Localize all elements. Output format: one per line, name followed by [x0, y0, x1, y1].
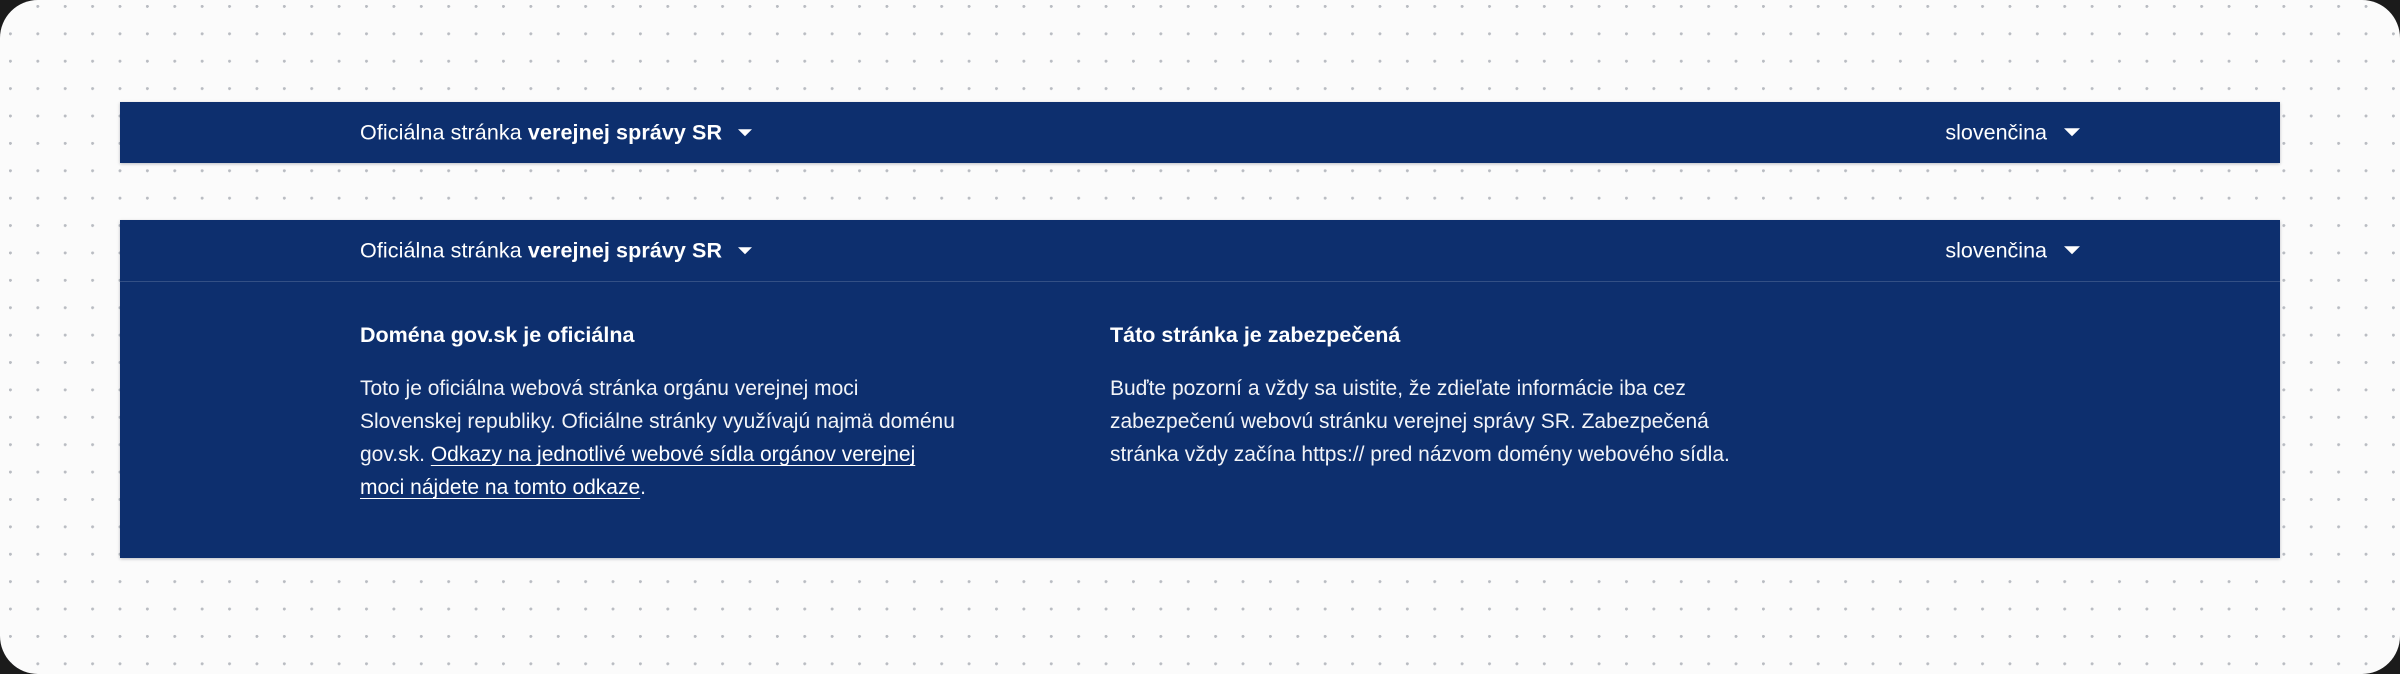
banner-info-panel: Doména gov.sk je oficiálna Toto je ofici… [120, 282, 2280, 558]
official-site-label-expanded: Oficiálna stránka verejnej správy SR [360, 240, 722, 262]
language-selector-expanded[interactable]: slovenčina [1945, 240, 2080, 262]
chevron-down-icon-language-collapsed[interactable] [2064, 129, 2080, 137]
official-site-strong-collapsed: verejnej správy SR [528, 120, 722, 144]
chevron-down-icon-language-expanded[interactable] [2064, 247, 2080, 255]
info-column-domain-text-after: . [640, 476, 646, 499]
language-value-collapsed: slovenčina [1945, 122, 2047, 144]
chevron-down-icon-official-collapsed[interactable] [738, 129, 752, 136]
official-site-toggle-expanded[interactable]: Oficiálna stránka verejnej správy SR [360, 240, 752, 262]
info-column-secure-title: Táto stránka je zabezpečená [1110, 322, 1830, 350]
official-site-prefix-collapsed: Oficiálna stránka [360, 120, 528, 144]
chevron-down-icon-official-expanded[interactable] [738, 247, 752, 254]
gov-banner-expanded: Oficiálna stránka verejnej správy SR slo… [120, 220, 2280, 558]
language-value-expanded: slovenčina [1945, 240, 2047, 262]
gov-banner-collapsed-bar: Oficiálna stránka verejnej správy SR slo… [120, 102, 2280, 163]
info-column-domain-title: Doména gov.sk je oficiálna [360, 322, 960, 350]
info-column-secure: Táto stránka je zabezpečená Buďte pozorn… [990, 322, 1860, 504]
official-site-toggle-collapsed[interactable]: Oficiálna stránka verejnej správy SR [360, 122, 752, 144]
official-site-strong-expanded: verejnej správy SR [528, 238, 722, 262]
public-authority-websites-link[interactable]: Odkazy na jednotlivé webové sídla orgáno… [360, 443, 915, 499]
info-column-secure-text: Buďte pozorní a vždy sa uistite, že zdie… [1110, 372, 1770, 471]
info-column-domain: Doména gov.sk je oficiálna Toto je ofici… [120, 322, 990, 504]
gov-banner-collapsed: Oficiálna stránka verejnej správy SR slo… [120, 102, 2280, 163]
gov-banner-expanded-bar: Oficiálna stránka verejnej správy SR slo… [120, 220, 2280, 281]
official-site-label-collapsed: Oficiálna stránka verejnej správy SR [360, 122, 722, 144]
language-selector-collapsed[interactable]: slovenčina [1945, 122, 2080, 144]
page-canvas: Oficiálna stránka verejnej správy SR slo… [0, 0, 2400, 674]
info-column-domain-text: Toto je oficiálna webová stránka orgánu … [360, 372, 960, 504]
official-site-prefix-expanded: Oficiálna stránka [360, 238, 528, 262]
